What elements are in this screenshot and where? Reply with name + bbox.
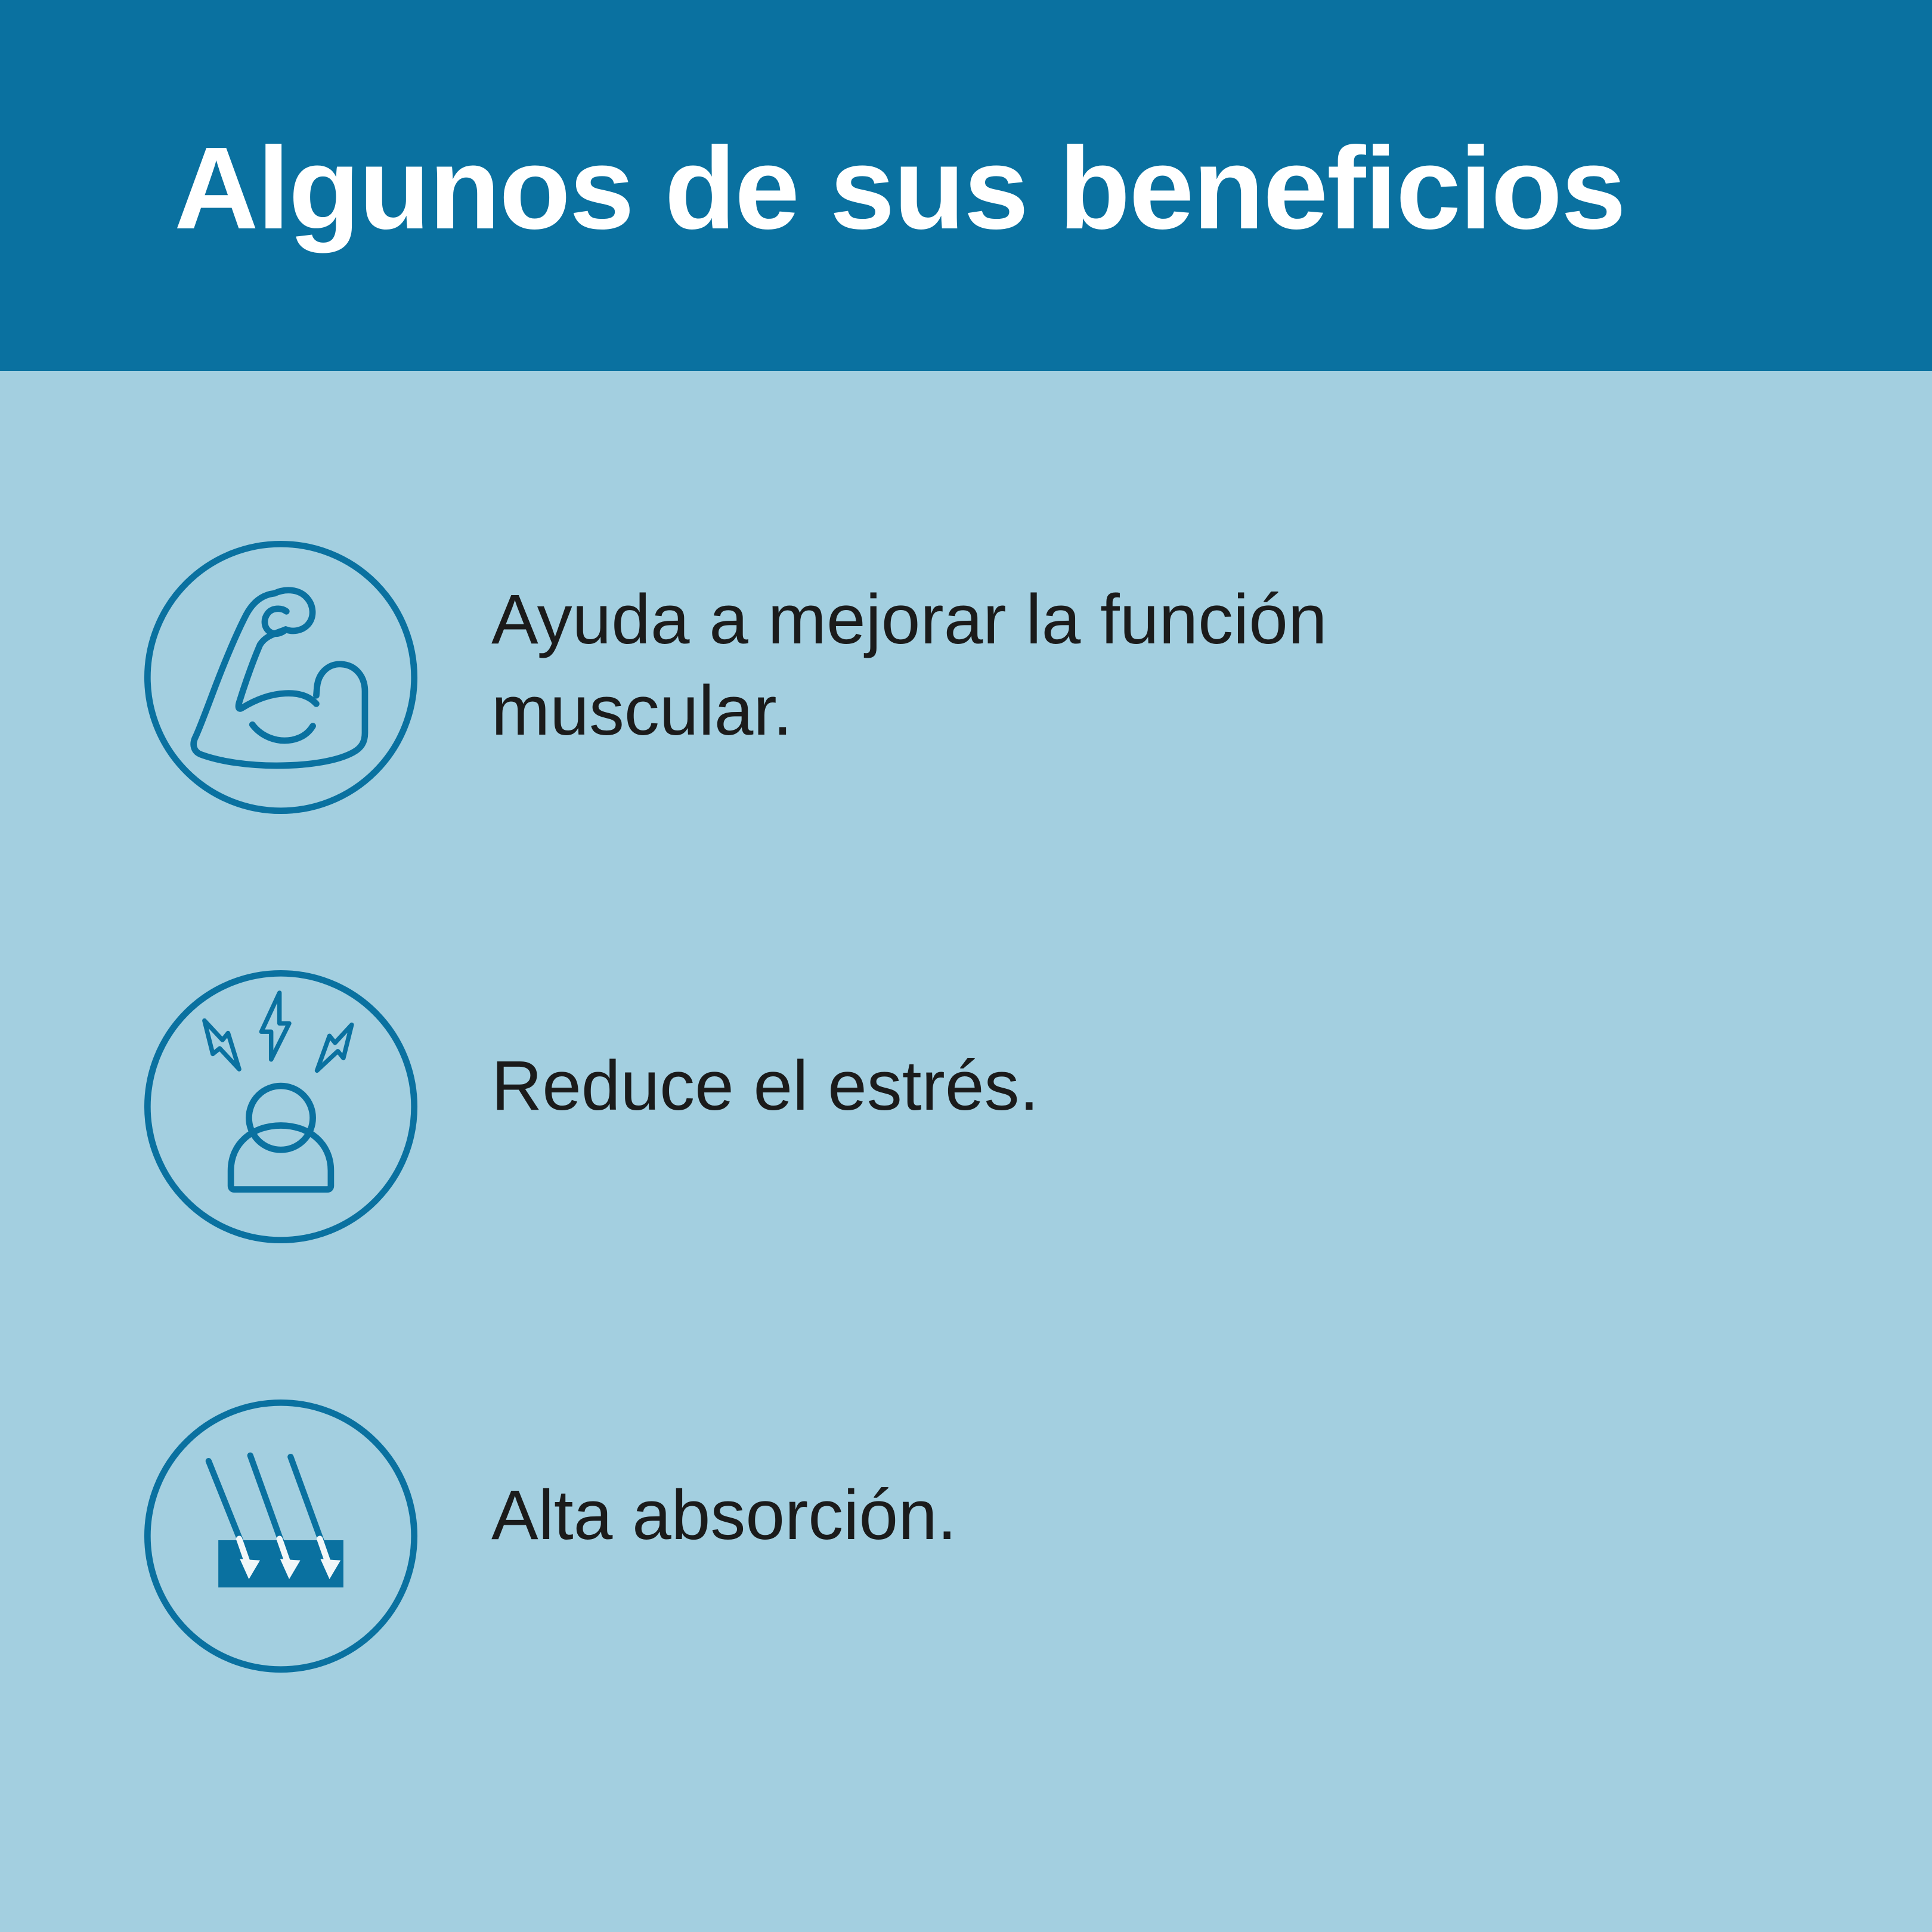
page-title: Algunos de sus beneficios <box>174 130 1625 247</box>
benefit-label: Alta absorción. <box>491 1470 1624 1561</box>
flexed-bicep-icon <box>142 538 420 816</box>
stressed-person-icon <box>142 968 420 1246</box>
benefit-label: Reduce el estrés. <box>491 1041 1624 1132</box>
benefits-list: Ayuda a mejorar la función muscular. Red… <box>0 371 1932 1932</box>
absorption-arrows-icon <box>142 1397 420 1675</box>
benefit-item-muscular-function: Ayuda a mejorar la función muscular. <box>0 538 1932 819</box>
benefit-item-stress: Reduce el estrés. <box>0 968 1932 1248</box>
benefit-item-absorption: Alta absorción. <box>0 1397 1932 1677</box>
benefit-label: Ayuda a mejorar la función muscular. <box>491 574 1624 757</box>
header-band: Algunos de sus beneficios <box>0 0 1932 371</box>
